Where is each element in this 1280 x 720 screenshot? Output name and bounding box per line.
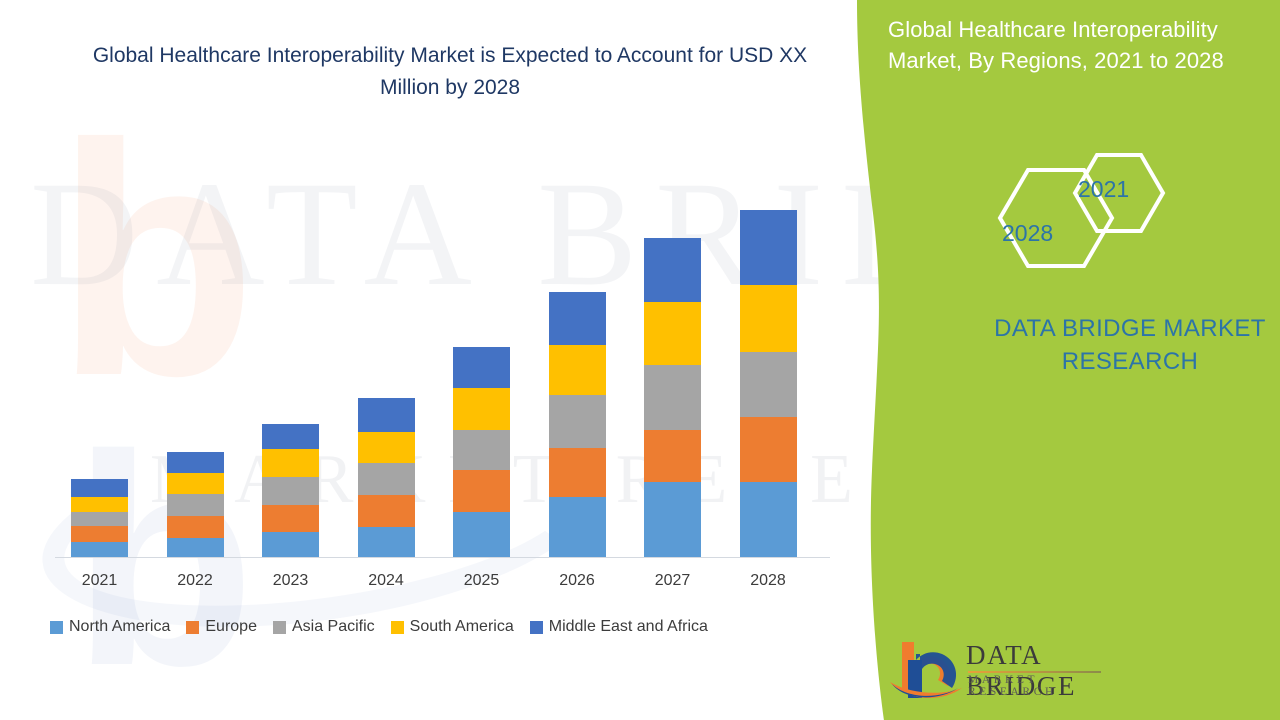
data-bridge-logo: DATA BRIDGE MARKET RESEARCH	[888, 636, 1118, 706]
segment-2024-asia-pacific	[358, 463, 415, 495]
segment-2023-europe	[262, 505, 319, 532]
legend-item-europe[interactable]: Europe	[186, 618, 257, 636]
segment-2028-europe	[740, 417, 797, 482]
bar-2023[interactable]	[262, 424, 319, 557]
legend-label: Asia Pacific	[292, 618, 375, 636]
segment-2021-asia-pacific	[71, 512, 128, 526]
segment-2027-middle-east-and-africa	[644, 238, 701, 302]
x-axis-label-2027: 2027	[628, 572, 718, 590]
segment-2027-asia-pacific	[644, 365, 701, 430]
segment-2023-north-america	[262, 532, 319, 557]
logo-mark-icon	[888, 636, 966, 704]
bar-2022[interactable]	[167, 452, 224, 557]
legend-item-north-america[interactable]: North America	[50, 618, 170, 636]
legend-label: North America	[69, 618, 170, 636]
infographic-page: b b DATA BRIDGE MARKET RESEARCH Global H…	[0, 0, 1280, 720]
segment-2023-asia-pacific	[262, 477, 319, 505]
segment-2026-south-america	[549, 345, 606, 395]
segment-2022-asia-pacific	[167, 494, 224, 516]
segment-2022-europe	[167, 516, 224, 538]
legend-item-south-america[interactable]: South America	[391, 618, 514, 636]
legend-swatch-icon	[50, 621, 63, 634]
segment-2027-europe	[644, 430, 701, 482]
x-axis-label-2022: 2022	[150, 572, 240, 590]
logo-tagline: MARKET RESEARCH	[968, 674, 1118, 698]
legend-label: Middle East and Africa	[549, 618, 708, 636]
bar-2025[interactable]	[453, 347, 510, 557]
segment-2025-europe	[453, 470, 510, 512]
legend-swatch-icon	[391, 621, 404, 634]
segment-2024-middle-east-and-africa	[358, 398, 415, 432]
legend-item-middle-east-and-africa[interactable]: Middle East and Africa	[530, 618, 708, 636]
x-axis-label-2024: 2024	[341, 572, 431, 590]
segment-2024-south-america	[358, 432, 415, 463]
chart-axis-line	[55, 557, 830, 558]
bar-2026[interactable]	[549, 292, 606, 557]
segment-2028-asia-pacific	[740, 352, 797, 417]
segment-2026-asia-pacific	[549, 395, 606, 448]
segment-2021-europe	[71, 526, 128, 542]
x-axis-label-2026: 2026	[532, 572, 622, 590]
hexagon-badges: 2021 2028	[980, 148, 1200, 288]
hex-label-2021: 2021	[1078, 176, 1129, 203]
segment-2024-north-america	[358, 527, 415, 557]
segment-2027-south-america	[644, 302, 701, 365]
x-axis-label-2023: 2023	[246, 572, 336, 590]
segment-2025-middle-east-and-africa	[453, 347, 510, 388]
bar-2024[interactable]	[358, 398, 415, 557]
panel-brand-name: DATA BRIDGE MARKET RESEARCH	[940, 312, 1280, 378]
legend-swatch-icon	[186, 621, 199, 634]
segment-2023-south-america	[262, 449, 319, 477]
segment-2028-middle-east-and-africa	[740, 210, 797, 285]
logo-divider	[968, 671, 1101, 673]
segment-2026-middle-east-and-africa	[549, 292, 606, 345]
segment-2023-middle-east-and-africa	[262, 424, 319, 449]
x-axis-label-2025: 2025	[437, 572, 527, 590]
segment-2026-north-america	[549, 497, 606, 557]
segment-2021-south-america	[71, 497, 128, 512]
x-axis-label-2021: 2021	[55, 572, 145, 590]
segment-2028-north-america	[740, 482, 797, 557]
legend-swatch-icon	[530, 621, 543, 634]
segment-2024-europe	[358, 495, 415, 527]
x-axis-label-2028: 2028	[723, 572, 813, 590]
legend-label: Europe	[205, 618, 257, 636]
chart-plot-area	[0, 0, 860, 600]
segment-2021-middle-east-and-africa	[71, 479, 128, 497]
bar-2027[interactable]	[644, 238, 701, 557]
segment-2028-south-america	[740, 285, 797, 352]
chart-legend: North AmericaEuropeAsia PacificSouth Ame…	[50, 618, 708, 636]
bar-2021[interactable]	[71, 479, 128, 557]
segment-2027-north-america	[644, 482, 701, 557]
segment-2021-north-america	[71, 542, 128, 557]
panel-title: Global Healthcare Interoperability Marke…	[888, 14, 1268, 76]
segment-2025-north-america	[453, 512, 510, 557]
legend-label: South America	[410, 618, 514, 636]
legend-swatch-icon	[273, 621, 286, 634]
hex-label-2028: 2028	[1002, 220, 1053, 247]
segment-2025-asia-pacific	[453, 430, 510, 470]
segment-2022-middle-east-and-africa	[167, 452, 224, 473]
segment-2025-south-america	[453, 388, 510, 430]
segment-2022-south-america	[167, 473, 224, 494]
bar-2028[interactable]	[740, 210, 797, 557]
segment-2026-europe	[549, 448, 606, 497]
legend-item-asia-pacific[interactable]: Asia Pacific	[273, 618, 375, 636]
segment-2022-north-america	[167, 538, 224, 557]
